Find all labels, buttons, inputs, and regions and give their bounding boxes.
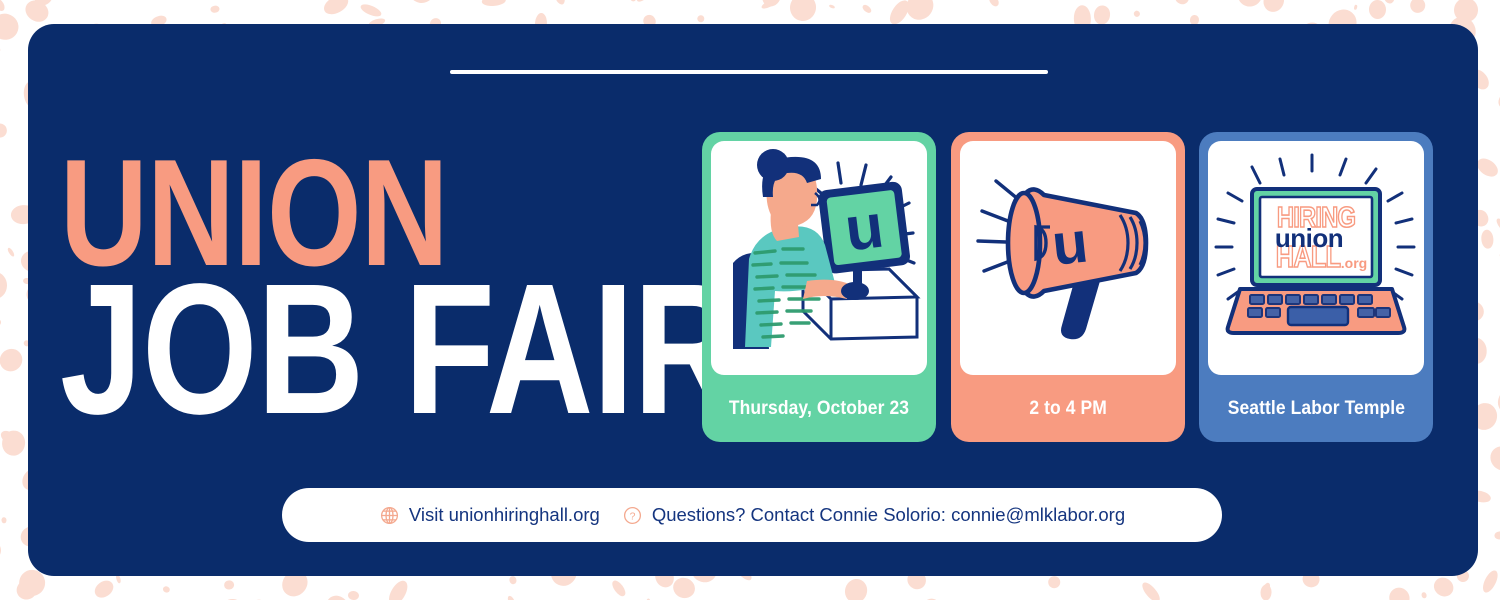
contact-questions-text: Questions? Contact Connie Solorio: conni… — [652, 504, 1125, 526]
person-at-computer-svg: u — [711, 141, 927, 375]
laptop-illustration: HIRING HALL union .org — [1208, 141, 1424, 375]
contact-item-website[interactable]: Visit unionhiringhall.org — [379, 504, 600, 526]
contact-bar: Visit unionhiringhall.org ? Questions? C… — [282, 488, 1222, 542]
info-card-location[interactable]: HIRING HALL union .org — [1199, 132, 1433, 442]
headline-line-jobfair: JOB FAIR — [60, 272, 572, 428]
megaphone-svg: u — [960, 141, 1176, 375]
card-label-date: Thursday, October 23 — [729, 375, 909, 442]
contact-website-text: Visit unionhiringhall.org — [409, 504, 600, 526]
svg-text:.org: .org — [1341, 255, 1367, 271]
question-circle-icon: ? — [622, 505, 643, 526]
svg-text:?: ? — [629, 510, 635, 522]
card-label-location: Seattle Labor Temple — [1227, 375, 1404, 442]
top-divider-rule — [450, 70, 1048, 74]
laptop-svg: HIRING HALL union .org — [1208, 141, 1424, 375]
info-card-date[interactable]: u — [702, 132, 936, 442]
banner-canvas: UNION JOB FAIR — [0, 0, 1500, 600]
svg-text:union: union — [1275, 223, 1343, 253]
card-label-time: 2 to 4 PM — [1029, 375, 1107, 442]
svg-text:u: u — [1049, 209, 1091, 277]
contact-item-questions[interactable]: ? Questions? Contact Connie Solorio: con… — [622, 504, 1125, 526]
megaphone-illustration: u — [960, 141, 1176, 375]
info-card-time[interactable]: u 2 to 4 PM — [951, 132, 1185, 442]
person-at-computer-illustration: u — [711, 141, 927, 375]
globe-icon — [379, 505, 400, 526]
page-title: UNION JOB FAIR — [60, 150, 700, 428]
